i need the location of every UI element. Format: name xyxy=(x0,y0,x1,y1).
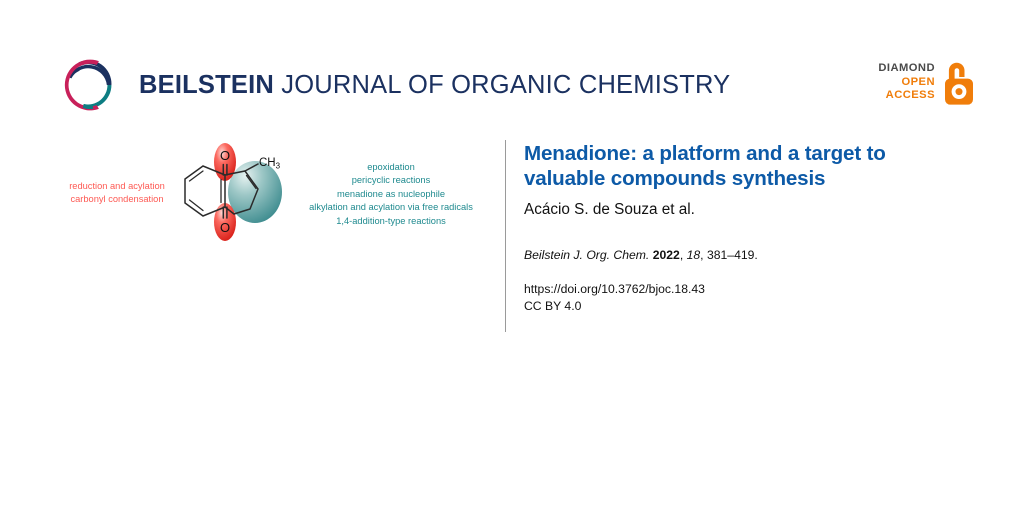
abstract-right-line-2: pericyclic reactions xyxy=(288,174,494,187)
article-metadata: Menadione: a platform and a target to va… xyxy=(524,142,976,315)
citation-sep-3: , xyxy=(700,248,707,262)
abstract-right-line-1: epoxidation xyxy=(288,161,494,174)
graphical-abstract: reduction and acylation carbonyl condens… xyxy=(0,130,500,340)
journal-brand[interactable]: BEILSTEIN JOURNAL OF ORGANIC CHEMISTRY xyxy=(55,52,730,118)
citation-pages: 381–419. xyxy=(707,248,758,262)
citation-volume: 18 xyxy=(687,248,701,262)
oa-label-diamond: DIAMOND xyxy=(878,62,935,76)
oa-label-open: OPEN xyxy=(878,76,935,90)
menadione-structure: O O CH3 xyxy=(178,138,293,243)
abstract-left-line-1: reduction and acylation xyxy=(52,180,182,193)
article-citation: Beilstein J. Org. Chem. 2022, 18, 381–41… xyxy=(524,247,976,263)
abstract-right-line-3: menadione as nucleophile xyxy=(288,188,494,201)
abstract-right-line-5: 1,4-addition-type reactions xyxy=(288,215,494,228)
article-doi-link[interactable]: https://doi.org/10.3762/bjoc.18.43 xyxy=(524,281,976,298)
methyl-label: CH3 xyxy=(259,157,281,170)
open-access-labels: DIAMOND OPEN ACCESS xyxy=(878,62,935,104)
article-license: CC BY 4.0 xyxy=(524,298,976,315)
open-padlock-icon xyxy=(942,59,976,106)
abstract-right-line-4: alkylation and acylation via free radica… xyxy=(288,201,494,214)
page-header: BEILSTEIN JOURNAL OF ORGANIC CHEMISTRY D… xyxy=(0,0,1024,130)
abstract-left-line-2: carbonyl condensation xyxy=(52,193,182,206)
article-authors: Acácio S. de Souza et al. xyxy=(524,200,976,219)
oa-label-access: ACCESS xyxy=(878,89,935,103)
citation-journal: Beilstein J. Org. Chem. xyxy=(524,248,649,262)
abstract-right-reactions: epoxidation pericyclic reactions menadio… xyxy=(288,161,494,228)
carbonyl-bottom-label: O xyxy=(220,220,230,235)
beilstein-spiral-logo xyxy=(55,52,121,118)
abstract-left-reactions: reduction and acylation carbonyl condens… xyxy=(52,180,182,206)
journal-wordmark: BEILSTEIN JOURNAL OF ORGANIC CHEMISTRY xyxy=(139,71,730,99)
diamond-open-access-badge[interactable]: DIAMOND OPEN ACCESS xyxy=(878,59,976,106)
wordmark-subtitle: JOURNAL OF ORGANIC CHEMISTRY xyxy=(281,71,730,99)
citation-sep-2: , xyxy=(680,248,687,262)
carbonyl-top-label: O xyxy=(220,148,230,163)
column-divider xyxy=(505,140,506,332)
article-title[interactable]: Menadione: a platform and a target to va… xyxy=(524,142,958,191)
page-content: reduction and acylation carbonyl condens… xyxy=(0,130,1024,512)
citation-year: 2022 xyxy=(653,248,680,262)
wordmark-beilstein: BEILSTEIN xyxy=(139,71,274,99)
